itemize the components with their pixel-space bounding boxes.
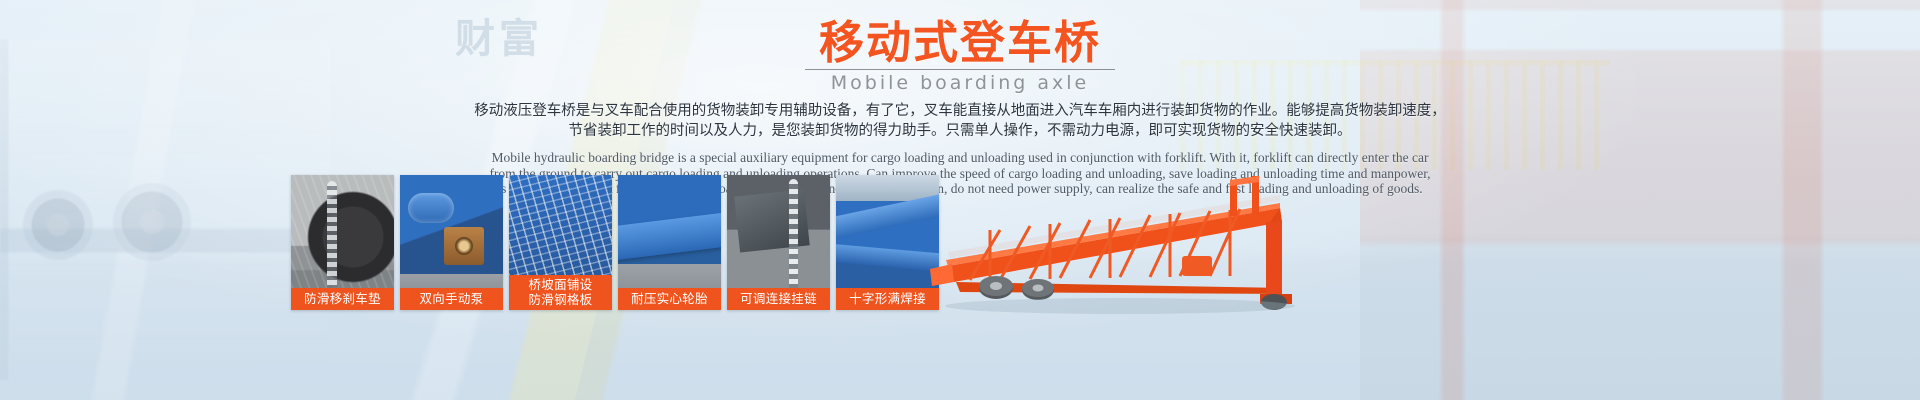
feature-thumb-solid-tire[interactable]: 耐压实心轮胎 bbox=[618, 175, 721, 310]
chain-link-detail bbox=[789, 179, 798, 297]
page-title: 移动式登车桥 bbox=[0, 18, 1920, 68]
cylinder-detail bbox=[408, 193, 454, 223]
title-divider bbox=[805, 69, 1115, 70]
weld-bar-lower bbox=[836, 244, 939, 272]
chinese-description-line-2: 节省装卸工作的时间以及人力，是您装卸货物的得力助手。只需单人操作，不需动力电源，… bbox=[0, 121, 1920, 141]
feature-caption-line-1: 桥坡面铺设 bbox=[528, 277, 592, 292]
beam-detail bbox=[618, 211, 721, 261]
feature-caption: 桥坡面铺设 防滑钢格板 bbox=[509, 275, 612, 310]
feature-caption: 耐压实心轮胎 bbox=[618, 288, 721, 310]
hub-detail bbox=[444, 227, 484, 265]
feature-thumb-anti-skid-brake-pad[interactable]: 防滑移刹车垫 bbox=[291, 175, 394, 310]
feature-caption: 双向手动泵 bbox=[400, 288, 503, 310]
feature-thumb-cross-weld[interactable]: 十字形满焊接 bbox=[836, 175, 939, 310]
feature-caption-line-2: 防滑钢格板 bbox=[528, 292, 592, 307]
orange-mobile-dock-ramp bbox=[930, 170, 1580, 320]
page-subtitle: Mobile boarding axle bbox=[0, 72, 1920, 94]
feature-thumb-hand-pump[interactable]: 双向手动泵 bbox=[400, 175, 503, 310]
feature-caption: 防滑移刹车垫 bbox=[291, 288, 394, 310]
feature-thumb-adjustable-chain[interactable]: 可调连接挂链 bbox=[727, 175, 830, 310]
headline-block: 移动式登车桥 Mobile boarding axle bbox=[0, 18, 1920, 94]
promo-banner: 财富 移动式登车桥 Mobile boarding axle 移动液压登车桥是与… bbox=[0, 0, 1920, 400]
plate-detail bbox=[734, 189, 809, 252]
feature-thumbnail-strip: 防滑移刹车垫 双向手动泵 桥坡面铺设 防滑钢格板 耐压实心轮胎 bbox=[291, 175, 939, 310]
chain-detail bbox=[327, 181, 337, 301]
chinese-description: 移动液压登车桥是与叉车配合使用的货物装卸专用辅助设备，有了它，叉车能直接从地面进… bbox=[0, 101, 1920, 141]
chinese-description-line-1: 移动液压登车桥是与叉车配合使用的货物装卸专用辅助设备，有了它，叉车能直接从地面进… bbox=[0, 101, 1920, 121]
feature-caption: 十字形满焊接 bbox=[836, 288, 939, 310]
feature-caption: 可调连接挂链 bbox=[727, 288, 830, 310]
feature-thumb-steel-grating[interactable]: 桥坡面铺设 防滑钢格板 bbox=[509, 175, 612, 310]
